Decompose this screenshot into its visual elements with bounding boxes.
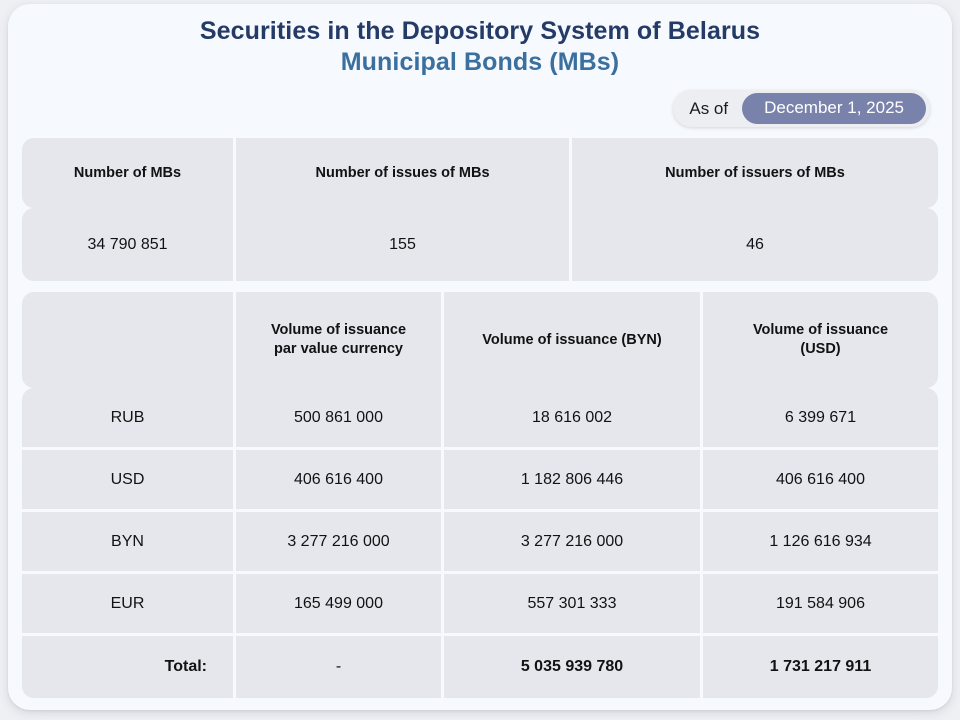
header-line-1: Volume of issuance bbox=[271, 322, 406, 338]
row-currency-label: BYN bbox=[22, 512, 236, 574]
report-card: Securities in the Depository System of B… bbox=[8, 4, 952, 710]
cell-par-value: 406 616 400 bbox=[236, 450, 444, 512]
cell-volume-usd: 191 584 906 bbox=[703, 574, 938, 636]
cell-volume-byn: 1 182 806 446 bbox=[444, 450, 703, 512]
column-header-number-of-mbs: Number of MBs bbox=[22, 138, 236, 208]
table-row: BYN 3 277 216 000 3 277 216 000 1 126 61… bbox=[22, 512, 938, 574]
row-currency-label: USD bbox=[22, 450, 236, 512]
row-currency-label: EUR bbox=[22, 574, 236, 636]
cell-volume-usd: 1 126 616 934 bbox=[703, 512, 938, 574]
value-number-of-issues: 155 bbox=[236, 208, 572, 281]
cell-par-value: 3 277 216 000 bbox=[236, 512, 444, 574]
column-header-volume-usd: Volume of issuance (USD) bbox=[703, 292, 938, 388]
total-volume-usd: 1 731 217 911 bbox=[703, 636, 938, 698]
row-currency-label: RUB bbox=[22, 388, 236, 450]
cell-par-value: 165 499 000 bbox=[236, 574, 444, 636]
total-label: Total: bbox=[22, 636, 236, 698]
volumes-table: Volume of issuance par value currency Vo… bbox=[22, 292, 938, 698]
as-of-badge[interactable]: As of December 1, 2025 bbox=[673, 90, 930, 127]
table-row: USD 406 616 400 1 182 806 446 406 616 40… bbox=[22, 450, 938, 512]
total-volume-byn: 5 035 939 780 bbox=[444, 636, 703, 698]
page-header: Securities in the Depository System of B… bbox=[8, 4, 952, 78]
summary-table: Number of MBs Number of issues of MBs Nu… bbox=[22, 138, 938, 281]
header-line-2: (USD) bbox=[800, 341, 840, 357]
as-of-badge-wrapper: As of December 1, 2025 bbox=[673, 90, 930, 127]
as-of-date-value[interactable]: December 1, 2025 bbox=[742, 93, 926, 124]
column-header-number-of-issues: Number of issues of MBs bbox=[236, 138, 572, 208]
column-header-currency bbox=[22, 292, 236, 388]
table-row: EUR 165 499 000 557 301 333 191 584 906 bbox=[22, 574, 938, 636]
value-number-of-issuers: 46 bbox=[572, 208, 938, 281]
table-row: RUB 500 861 000 18 616 002 6 399 671 bbox=[22, 388, 938, 450]
column-header-par-value-currency: Volume of issuance par value currency bbox=[236, 292, 444, 388]
header-line-2: par value currency bbox=[274, 341, 403, 357]
cell-volume-usd: 6 399 671 bbox=[703, 388, 938, 450]
cell-volume-byn: 557 301 333 bbox=[444, 574, 703, 636]
header-line-1: Volume of issuance bbox=[753, 322, 888, 338]
table-header-row: Volume of issuance par value currency Vo… bbox=[22, 292, 938, 388]
column-header-volume-byn: Volume of issuance (BYN) bbox=[444, 292, 703, 388]
table-header-row: Number of MBs Number of issues of MBs Nu… bbox=[22, 138, 938, 208]
value-number-of-mbs: 34 790 851 bbox=[22, 208, 236, 281]
table-total-row: Total: - 5 035 939 780 1 731 217 911 bbox=[22, 636, 938, 698]
cell-par-value: 500 861 000 bbox=[236, 388, 444, 450]
column-header-number-of-issuers: Number of issuers of MBs bbox=[572, 138, 938, 208]
page-title: Securities in the Depository System of B… bbox=[8, 16, 952, 47]
table-row: 34 790 851 155 46 bbox=[22, 208, 938, 281]
total-par-value: - bbox=[236, 636, 444, 698]
cell-volume-byn: 3 277 216 000 bbox=[444, 512, 703, 574]
cell-volume-byn: 18 616 002 bbox=[444, 388, 703, 450]
cell-volume-usd: 406 616 400 bbox=[703, 450, 938, 512]
as-of-label: As of bbox=[689, 99, 742, 119]
page-subtitle: Municipal Bonds (MBs) bbox=[8, 47, 952, 78]
